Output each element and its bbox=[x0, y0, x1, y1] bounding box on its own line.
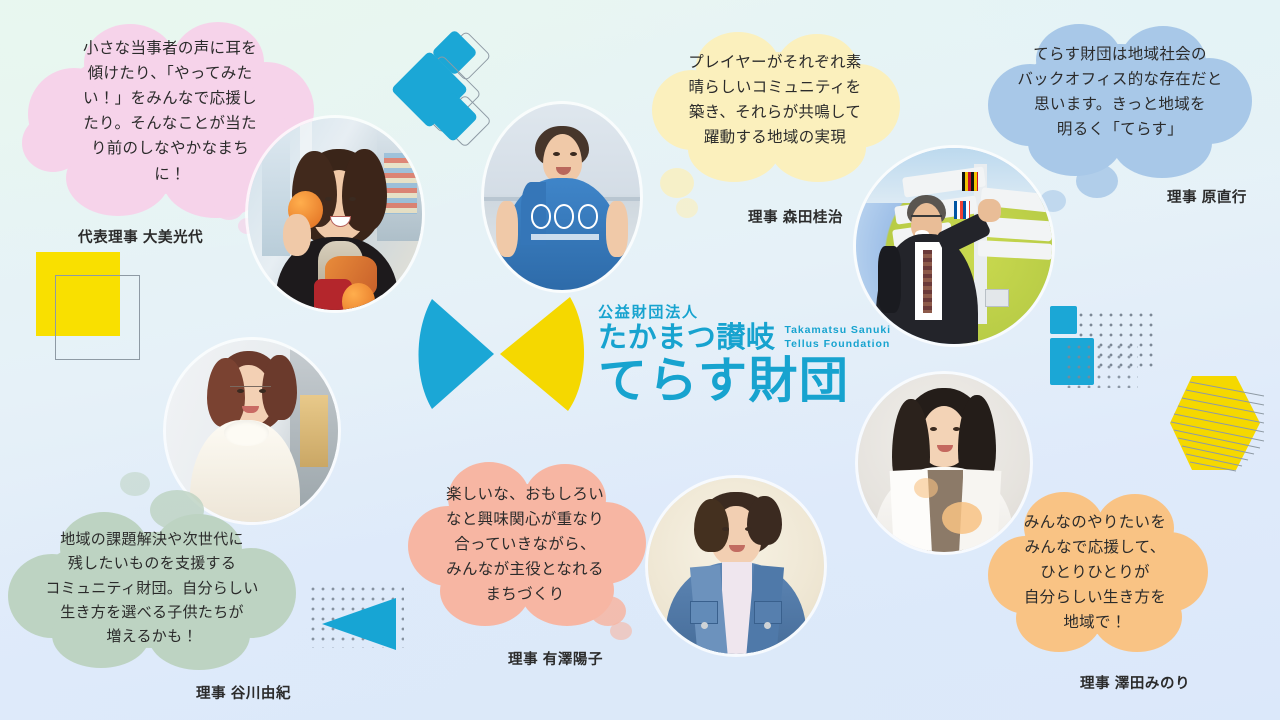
credit-hara-naoyuki: 理事 原直行 bbox=[1167, 186, 1247, 207]
logo-name-main: てらす財団 bbox=[598, 356, 891, 407]
foundation-logo: 公益財団法人 たかまつ讃岐 Takamatsu Sanuki Tellus Fo… bbox=[418, 293, 891, 415]
bowtie-mark-icon bbox=[418, 293, 586, 415]
poster-canvas: 小さな当事者の声に耳を 傾けたり、「やってみた い！」をみんなで応援し たり。そ… bbox=[0, 0, 1280, 720]
quote-bubble-oomi-mitsuyo: 小さな当事者の声に耳を 傾けたり、「やってみた い！」をみんなで応援し たり。そ… bbox=[22, 22, 318, 218]
quote-text: みんなのやりたいを みんなで応援して、 ひとりひとりが 自分らしい生き方を 地域… bbox=[988, 492, 1202, 644]
logo-type: 公益財団法人 たかまつ讃岐 Takamatsu Sanuki Tellus Fo… bbox=[598, 301, 891, 408]
credit-morita-keiji: 理事 森田桂治 bbox=[748, 206, 843, 227]
credit-sawada-minori: 理事 澤田みのり bbox=[1080, 672, 1190, 693]
logo-name-jp: たかまつ讃岐 bbox=[598, 323, 775, 355]
logo-name-en-line1: Takamatsu Sanuki bbox=[784, 323, 891, 337]
cyan-triangle-decoration bbox=[308, 582, 420, 668]
quote-text: 小さな当事者の声に耳を 傾けたり、「やってみた い！」をみんなで応援し たり。そ… bbox=[22, 22, 318, 195]
quote-text: 楽しいな、おもしろい なと興味関心が重なり 合っていきながら、 みんなが主役とな… bbox=[408, 462, 642, 616]
quote-bubble-sawada-minori: みんなのやりたいを みんなで応援して、 ひとりひとりが 自分らしい生き方を 地域… bbox=[988, 492, 1202, 652]
hexagon-icon bbox=[1168, 374, 1264, 472]
credit-arisawa-yoko: 理事 有澤陽子 bbox=[508, 648, 603, 669]
quote-text: てらす財団は地域社会の バックオフィス的な存在だと 思います。きっと地域を 明る… bbox=[988, 24, 1252, 150]
logo-mark bbox=[418, 293, 586, 415]
credit-tanigawa-yuki: 理事 谷川由紀 bbox=[196, 682, 291, 703]
credit-oomi-mitsuyo: 代表理事 大美光代 bbox=[78, 226, 203, 247]
yellow-hexagon-decoration bbox=[1168, 374, 1264, 472]
logo-prefix: 公益財団法人 bbox=[598, 301, 891, 322]
logo-name-en-line2: Tellus Foundation bbox=[784, 337, 891, 351]
photo-arisawa-yoko bbox=[648, 478, 824, 654]
quote-bubble-arisawa-yoko: 楽しいな、おもしろい なと興味関心が重なり 合っていきながら、 みんなが主役とな… bbox=[408, 462, 642, 624]
photo-morita-keiji bbox=[484, 104, 640, 290]
logo-name-en: Takamatsu Sanuki Tellus Foundation bbox=[784, 323, 891, 354]
cyan-dotgrid-decoration bbox=[1050, 306, 1155, 406]
quote-text: プレイヤーがそれぞれ素 晴らしいコミュニティを 築き、それらが共鳴して 躍動する… bbox=[652, 32, 898, 158]
yellow-square-decoration bbox=[36, 252, 146, 362]
quote-bubble-tanigawa-yuki: 地域の課題解決や次世代に 残したいものを支援する コミュニティ財団。自分らしい … bbox=[8, 512, 296, 668]
quote-text: 地域の課題解決や次世代に 残したいものを支援する コミュニティ財団。自分らしい … bbox=[8, 512, 296, 657]
quote-bubble-morita-keiji: プレイヤーがそれぞれ素 晴らしいコミュニティを 築き、それらが共鳴して 躍動する… bbox=[652, 32, 898, 180]
